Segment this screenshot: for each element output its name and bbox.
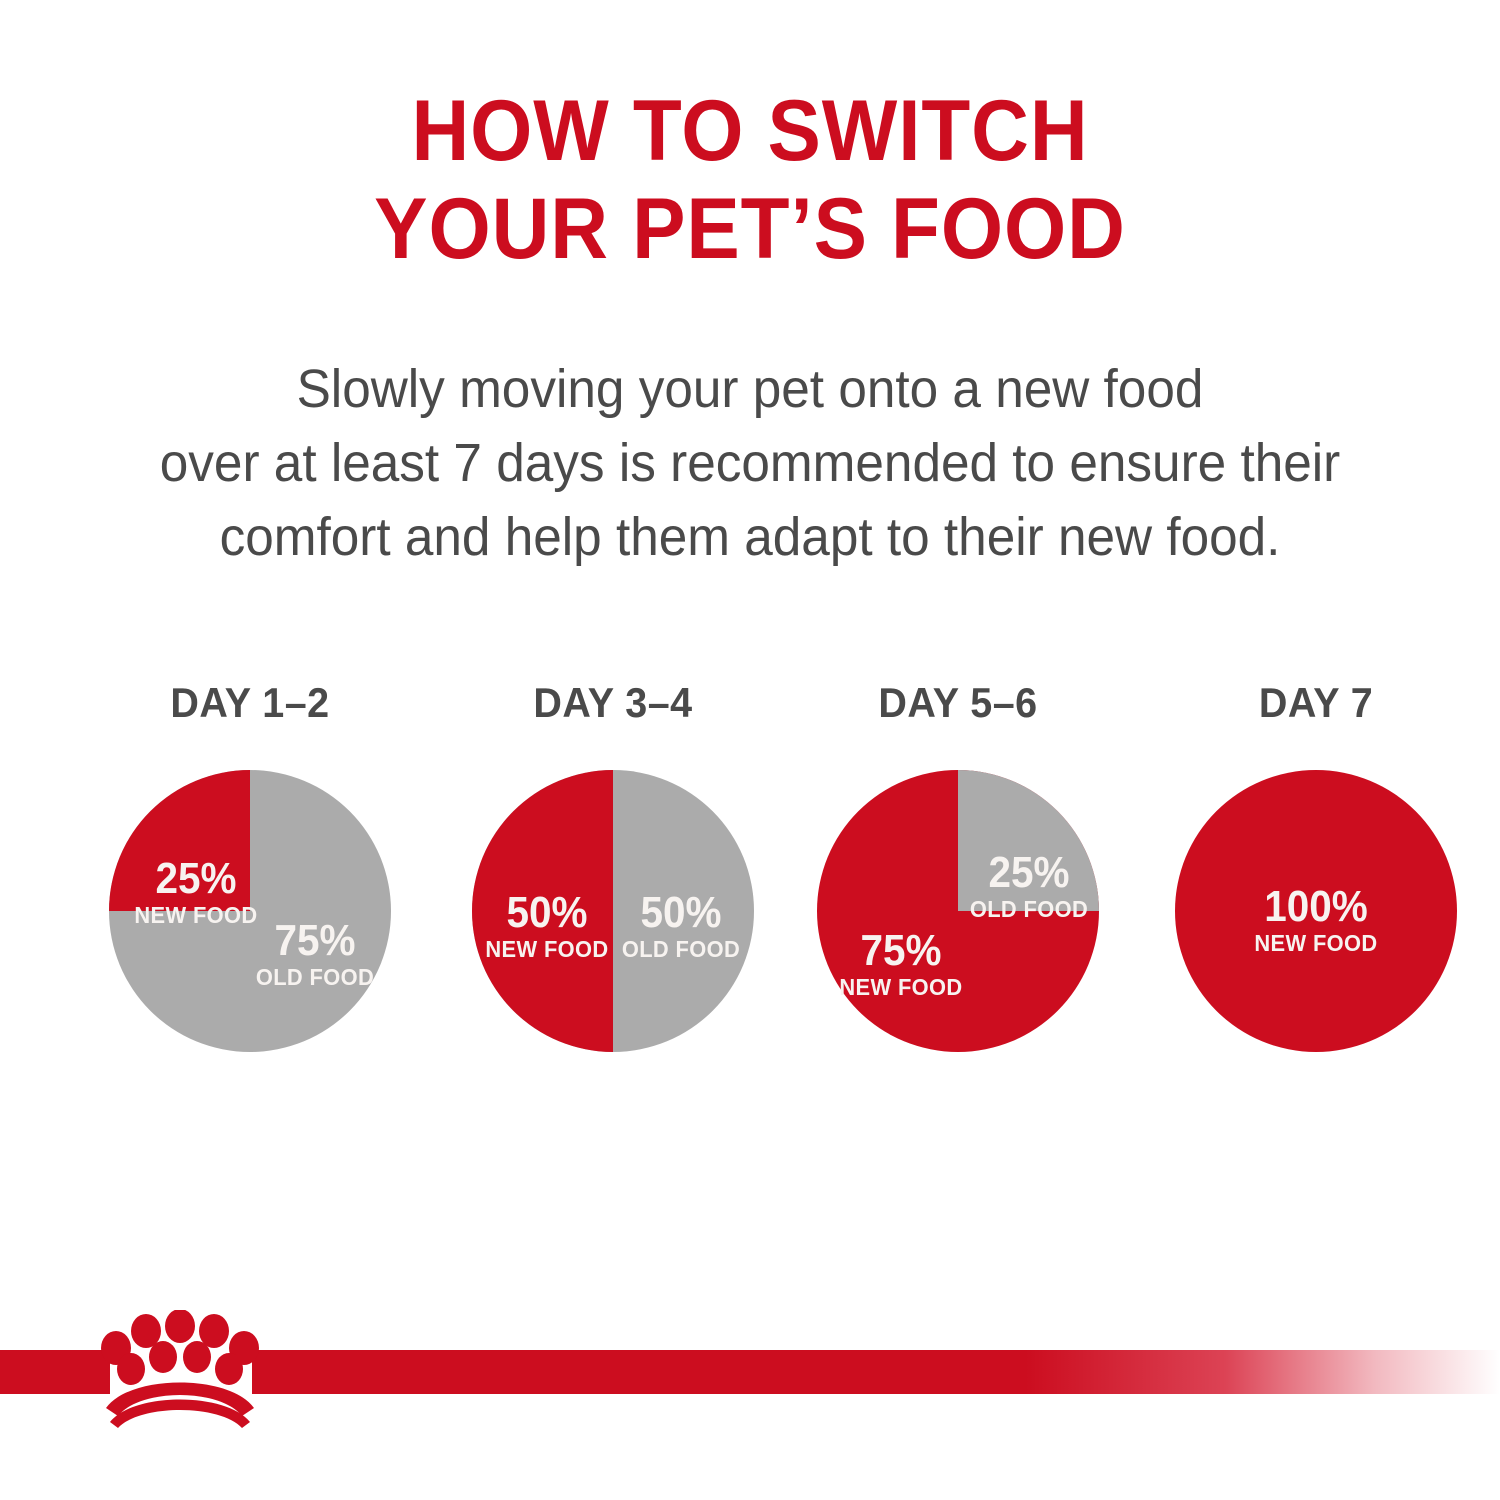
pie-chart-day-5-6: DAY 5–6 75% NEW FOOD 25% OLD FOOD	[793, 680, 1123, 1053]
pie-svg-day-1-2	[108, 769, 392, 1053]
pie-chart-day-7: DAY 7 100% NEW FOOD	[1151, 680, 1481, 1053]
pie-chart-row: DAY 1–2 25% NEW FOOD 75% OLD FOOD DAY 3–…	[0, 680, 1500, 1100]
pie-title-day-7: DAY 7	[1161, 680, 1471, 726]
pie-title-day-1-2: DAY 1–2	[95, 680, 405, 726]
pie-graphic-day-5-6: 75% NEW FOOD 25% OLD FOOD	[816, 769, 1100, 1053]
footer-bar-left-segment	[0, 1350, 110, 1394]
pie-svg-day-5-6	[816, 769, 1100, 1053]
pie-slice-old-food	[958, 770, 1099, 911]
pie-svg-day-7	[1174, 769, 1458, 1053]
pie-svg-day-3-4	[471, 769, 755, 1053]
intro-paragraph: Slowly moving your pet onto a new food o…	[0, 352, 1500, 574]
pie-chart-day-3-4: DAY 3–4 50% NEW FOOD 50% OLD FOOD	[448, 680, 778, 1053]
intro-line-1: Slowly moving your pet onto a new food	[38, 352, 1463, 426]
pie-slice-new-food	[472, 770, 613, 1052]
pie-chart-day-1-2: DAY 1–2 25% NEW FOOD 75% OLD FOOD	[85, 680, 415, 1053]
footer-bar-right-segment	[252, 1350, 1500, 1394]
brand-footer-bar	[0, 1350, 1500, 1394]
title-line-1: HOW TO SWITCH	[53, 82, 1448, 180]
page-title: HOW TO SWITCH YOUR PET’S FOOD	[0, 82, 1500, 278]
pie-slice-new-food	[1175, 770, 1457, 1052]
pie-title-day-5-6: DAY 5–6	[803, 680, 1113, 726]
intro-line-2: over at least 7 days is recommended to e…	[38, 426, 1463, 500]
pie-slice-new-food	[109, 770, 250, 911]
pie-title-day-3-4: DAY 3–4	[458, 680, 768, 726]
pie-graphic-day-3-4: 50% NEW FOOD 50% OLD FOOD	[471, 769, 755, 1053]
title-line-2: YOUR PET’S FOOD	[53, 180, 1448, 278]
intro-line-3: comfort and help them adapt to their new…	[38, 500, 1463, 574]
pie-graphic-day-7: 100% NEW FOOD	[1174, 769, 1458, 1053]
infographic-page: HOW TO SWITCH YOUR PET’S FOOD Slowly mov…	[0, 0, 1500, 1500]
pie-graphic-day-1-2: 25% NEW FOOD 75% OLD FOOD	[108, 769, 392, 1053]
royal-canin-crown-icon	[100, 1310, 260, 1428]
